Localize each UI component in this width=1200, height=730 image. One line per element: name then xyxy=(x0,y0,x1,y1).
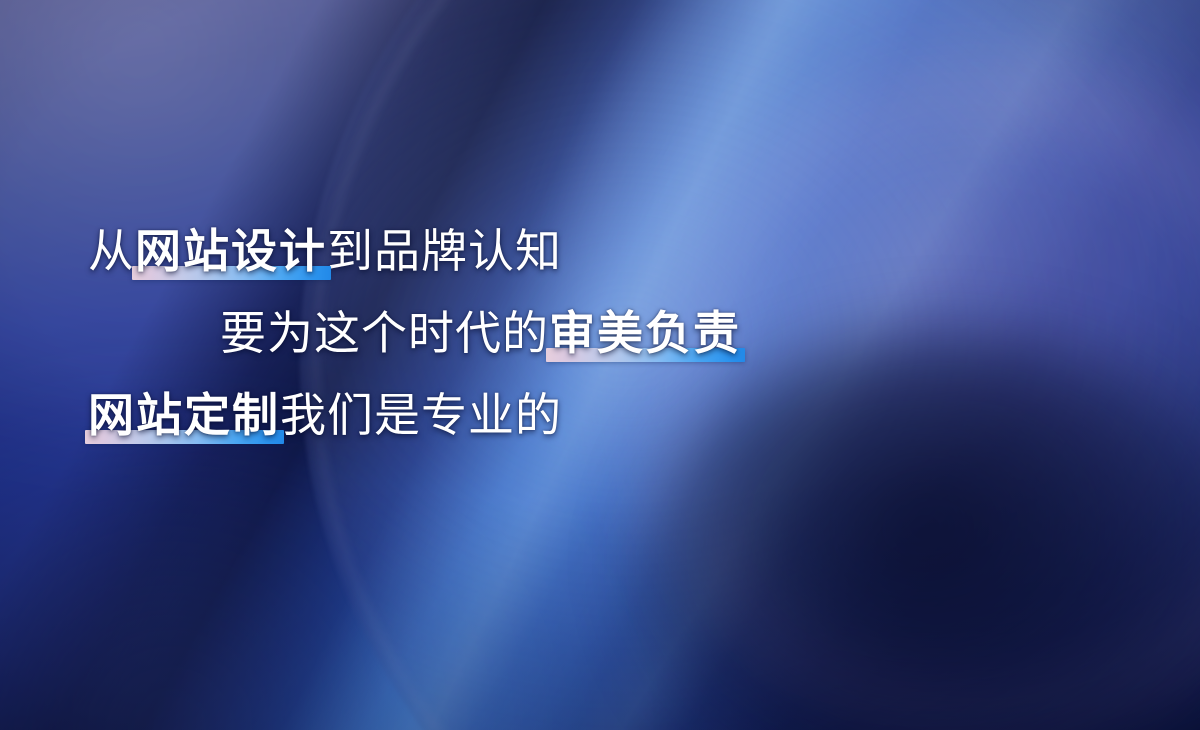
headline-line-2: 要为这个时代的审美负责 xyxy=(220,310,741,356)
headline-line-3: 网站定制我们是专业的 xyxy=(88,392,562,438)
headline-line-1-segment-1: 从 xyxy=(88,225,135,277)
headline-line-3-segment-2: 我们是专业的 xyxy=(280,389,562,441)
background-light-streak-a xyxy=(0,0,1200,730)
headline-line-2-highlight: 审美负责 xyxy=(549,307,741,359)
headline-block: 从网站设计到品牌认知 要为这个时代的审美负责 网站定制我们是专业的 xyxy=(0,0,1200,730)
background-wing-edge xyxy=(314,0,1200,730)
background-mauve-field xyxy=(560,0,1200,730)
background-top-left-glow xyxy=(0,0,600,430)
background-bottom-left-glow xyxy=(0,420,600,730)
background-vignette xyxy=(0,0,1200,730)
hero-banner: 从网站设计到品牌认知 要为这个时代的审美负责 网站定制我们是专业的 xyxy=(0,0,1200,730)
background-light-streak-b xyxy=(0,0,1200,730)
background-mauve-arc xyxy=(646,60,1200,730)
background-shadow-wedge xyxy=(0,0,1200,730)
background-bright-swoosh xyxy=(0,0,1200,730)
headline-line-1-highlight: 网站设计 xyxy=(135,225,327,277)
background-dark-pocket xyxy=(640,330,1200,730)
headline-line-1: 从网站设计到品牌认知 xyxy=(88,228,562,274)
headline-line-2-segment-1: 要为这个时代的 xyxy=(220,307,549,359)
headline-line-1-segment-3: 到品牌认知 xyxy=(327,225,562,277)
headline-line-3-highlight: 网站定制 xyxy=(88,389,280,441)
background-wing-swoosh xyxy=(300,0,1200,730)
background-base-gradient xyxy=(0,0,1200,730)
